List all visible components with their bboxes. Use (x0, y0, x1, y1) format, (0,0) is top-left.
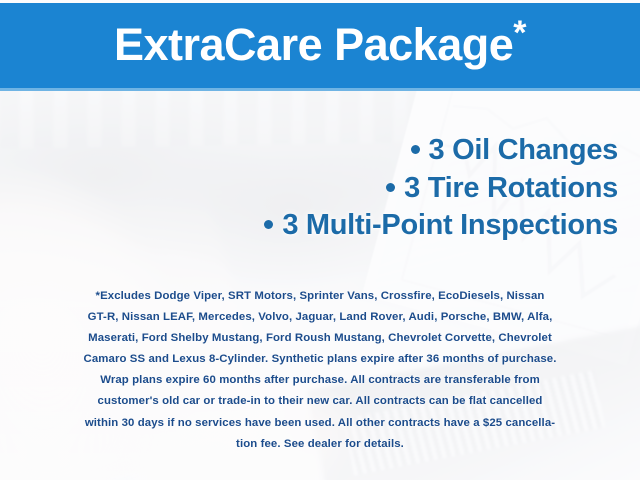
benefit-label: 3 Oil Changes (429, 134, 619, 166)
benefits-list: 3 Oil Changes 3 Tire Rotations 3 Multi-P… (0, 132, 640, 245)
benefit-label: 3 Tire Rotations (404, 172, 618, 204)
legal-fineprint: *Excludes Dodge Viper, SRT Motors, Sprin… (0, 286, 640, 455)
extracare-package-promo-card: ExtraCare Package* 3 Oil Changes 3 Tire … (0, 0, 640, 480)
header-band: ExtraCare Package* (0, 3, 640, 88)
fineprint-line: GT-R, Nissan LEAF, Mercedes, Volvo, Jagu… (18, 307, 622, 328)
header-underline (0, 88, 640, 91)
page-title-text: ExtraCare Package (114, 19, 513, 70)
fineprint-line: Maserati, Ford Shelby Mustang, Ford Rous… (18, 328, 622, 349)
bullet-dot-icon (411, 145, 420, 154)
benefit-label: 3 Multi-Point Inspections (282, 209, 618, 241)
benefit-item: 3 Oil Changes (0, 132, 618, 170)
benefit-item: 3 Tire Rotations (0, 170, 618, 208)
benefit-item: 3 Multi-Point Inspections (0, 207, 618, 245)
fineprint-line: Wrap plans expire 60 months after purcha… (18, 370, 622, 391)
bullet-dot-icon (264, 220, 273, 229)
bullet-dot-icon (386, 183, 395, 192)
fineprint-line: Camaro SS and Lexus 8-Cylinder. Syntheti… (18, 349, 622, 370)
fineprint-line: customer's old car or trade-in to their … (18, 391, 622, 412)
page-title: ExtraCare Package* (114, 22, 526, 69)
fineprint-line: tion fee. See dealer for details. (18, 434, 622, 455)
fineprint-line: within 30 days if no services have been … (18, 413, 622, 434)
fineprint-line: *Excludes Dodge Viper, SRT Motors, Sprin… (18, 286, 622, 307)
page-title-asterisk: * (513, 14, 526, 52)
